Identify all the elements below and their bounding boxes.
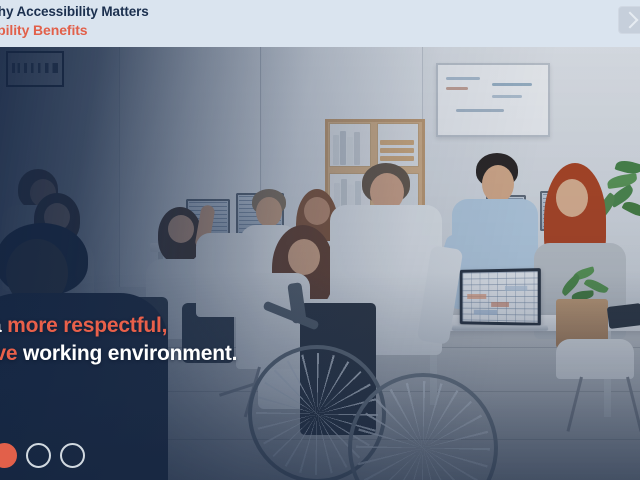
whiteboard-mark <box>492 83 532 86</box>
laptop-screen <box>463 271 538 323</box>
headline-accent-2: effective <box>0 342 17 365</box>
whiteboard-mark <box>446 77 480 80</box>
headline-line-2: effective working environment. <box>0 340 237 368</box>
whiteboard-mark <box>456 109 504 112</box>
headline-line-1: ering a more respectful, <box>0 312 237 340</box>
plant-leaf <box>606 173 637 189</box>
hero-headline: ering a more respectful, effective worki… <box>0 312 237 368</box>
shelf-tray <box>380 140 414 145</box>
carousel-dot-1[interactable] <box>0 443 17 468</box>
laptop <box>460 268 541 326</box>
shelf-tray <box>380 148 414 153</box>
hero-image <box>0 47 640 480</box>
whiteboard-mark <box>446 87 468 90</box>
chevron-right-icon <box>622 12 639 29</box>
spreadsheet-highlight <box>505 286 527 291</box>
shelf-tray <box>380 156 414 161</box>
shelf-book <box>340 131 346 165</box>
spreadsheet-highlight <box>474 310 497 315</box>
spreadsheet-highlight <box>491 302 509 307</box>
person-head <box>168 215 194 243</box>
headline-accent-1: more respectful, <box>7 314 167 337</box>
person-head <box>304 197 330 225</box>
person-head <box>288 239 320 275</box>
shelf-book <box>354 132 360 165</box>
page-subtitle: e Accessibility Benefits <box>0 21 149 40</box>
whiteboard-mark <box>492 95 522 98</box>
page-header: Briefs® Why Accessibility Matters e Acce… <box>0 0 640 47</box>
person-head <box>482 165 514 203</box>
plant-leaf <box>622 198 640 220</box>
carousel-indicators <box>0 443 85 468</box>
carousel-dot-3[interactable] <box>60 443 85 468</box>
tablet-device <box>607 303 640 329</box>
person-head <box>556 179 588 217</box>
person-head <box>256 197 282 227</box>
hero-carousel: ering a more respectful, effective worki… <box>0 47 640 480</box>
whiteboard <box>436 63 550 137</box>
shelf-book <box>347 137 353 165</box>
spreadsheet-highlight <box>467 294 486 299</box>
page-title: Briefs® Why Accessibility Matters <box>0 3 149 20</box>
carousel-dot-2[interactable] <box>26 443 51 468</box>
shelf-cell <box>377 123 419 167</box>
page-title-text: Briefs® Why Accessibility Matters <box>0 4 149 19</box>
wheel-spokes <box>356 381 490 480</box>
shelf-cell <box>329 123 371 167</box>
header-text-block: Briefs® Why Accessibility Matters e Acce… <box>0 3 149 40</box>
headline-plain-2: working environment. <box>17 342 237 365</box>
chevron-button[interactable] <box>618 6 640 34</box>
laptop-keyboard <box>451 325 548 330</box>
shelf-book <box>333 135 339 165</box>
white-chair <box>556 339 634 379</box>
wall-picture-frame <box>6 51 64 87</box>
picture-artwork <box>12 63 58 73</box>
page-root: Briefs® Why Accessibility Matters e Acce… <box>0 0 640 480</box>
